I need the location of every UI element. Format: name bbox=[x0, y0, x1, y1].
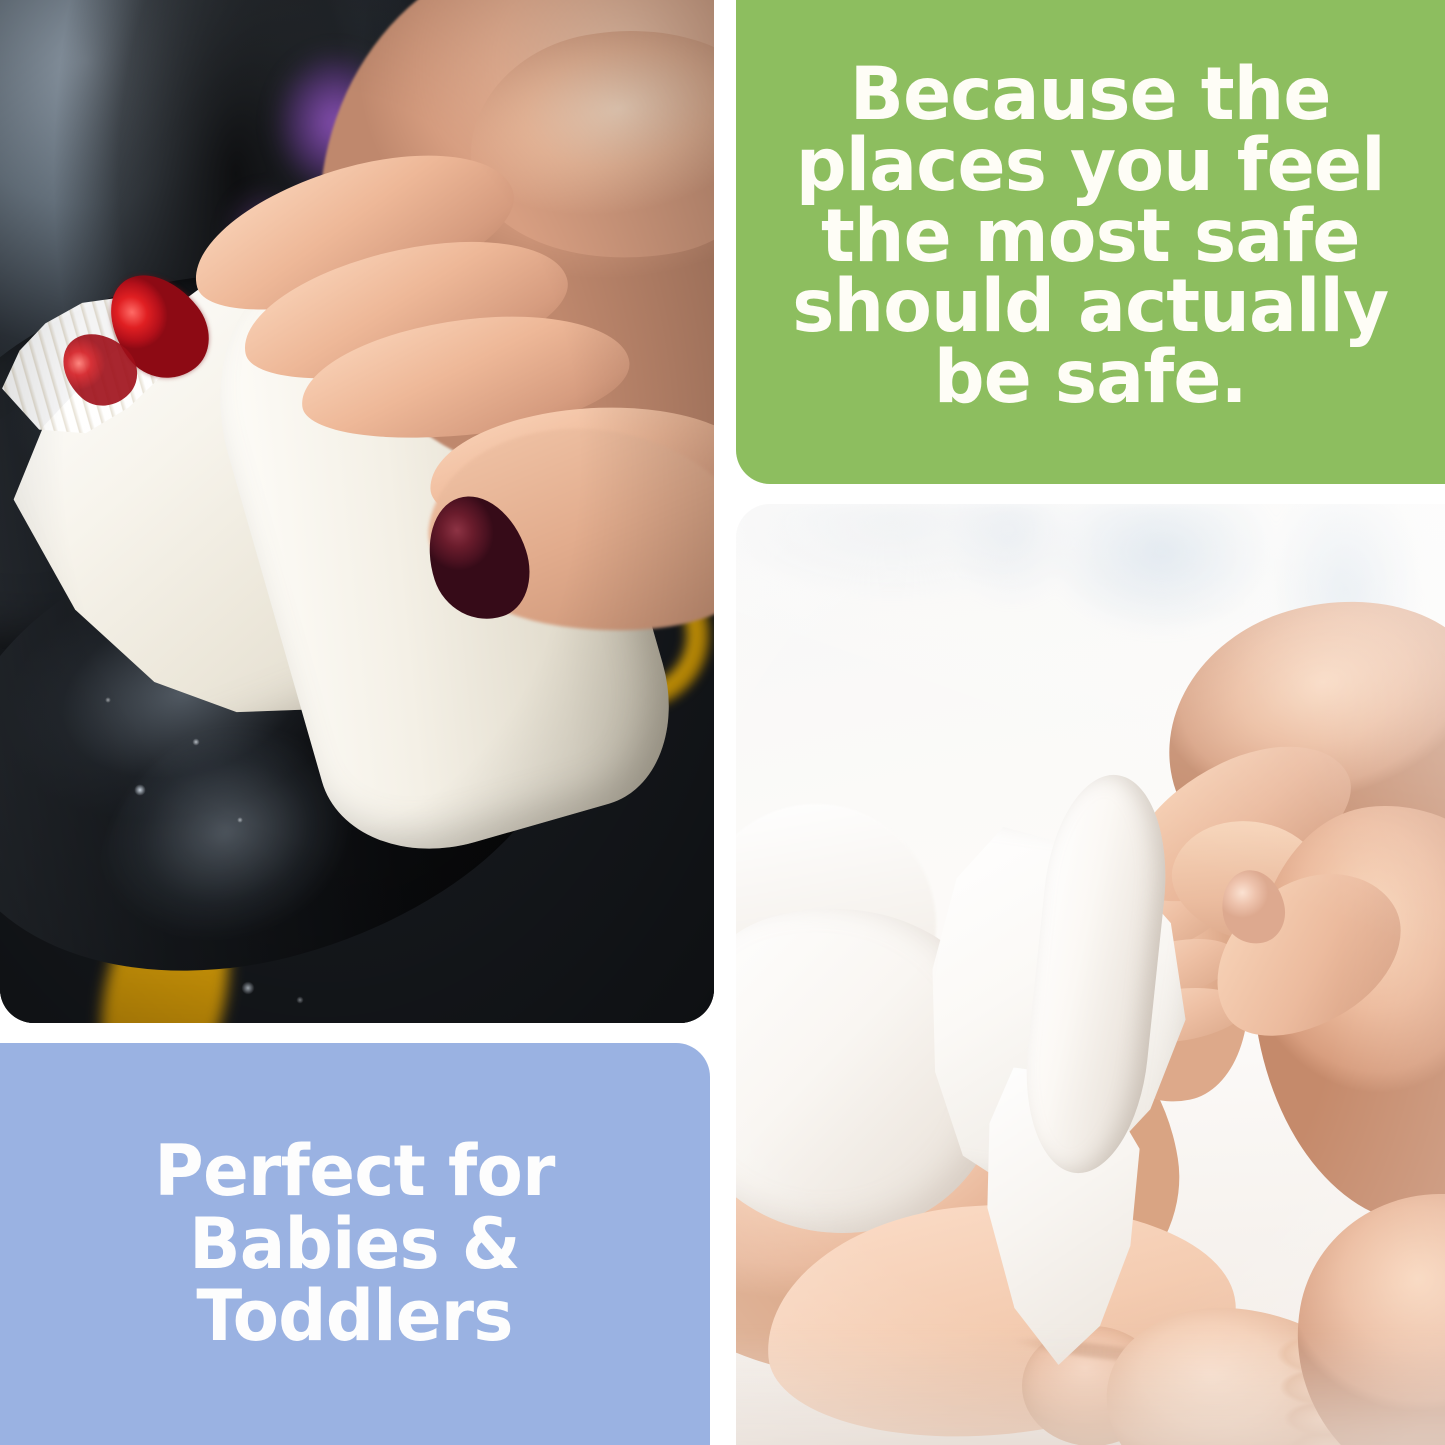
ad-creative-canvas: Because the places you feel the most saf… bbox=[0, 0, 1445, 1445]
subline-line-3: Toddlers bbox=[41, 1280, 668, 1353]
headline-line-2: places you feel bbox=[766, 131, 1415, 202]
headline-line-3: the most safe bbox=[766, 202, 1415, 273]
subline-line-1: Perfect for bbox=[41, 1135, 668, 1208]
subline-text: Perfect for Babies & Toddlers bbox=[41, 1135, 668, 1353]
headline-line-1: Because the bbox=[766, 60, 1415, 131]
green-headline-panel: Because the places you feel the most saf… bbox=[736, 0, 1445, 484]
headline-text: Because the places you feel the most saf… bbox=[760, 60, 1420, 424]
photo-hand-wiping-car-seat-buckle bbox=[0, 0, 714, 1023]
subline-line-2: Babies & bbox=[41, 1208, 668, 1281]
headline-line-4: should actually bbox=[766, 272, 1415, 343]
blue-subline-panel: Perfect for Babies & Toddlers bbox=[0, 1043, 710, 1445]
headline-line-5: be safe. bbox=[766, 343, 1415, 414]
photo-vignette-layer bbox=[0, 0, 714, 1023]
baby-photo-highlight-layer bbox=[736, 504, 1445, 1445]
photo-baby-being-wiped bbox=[736, 504, 1445, 1445]
